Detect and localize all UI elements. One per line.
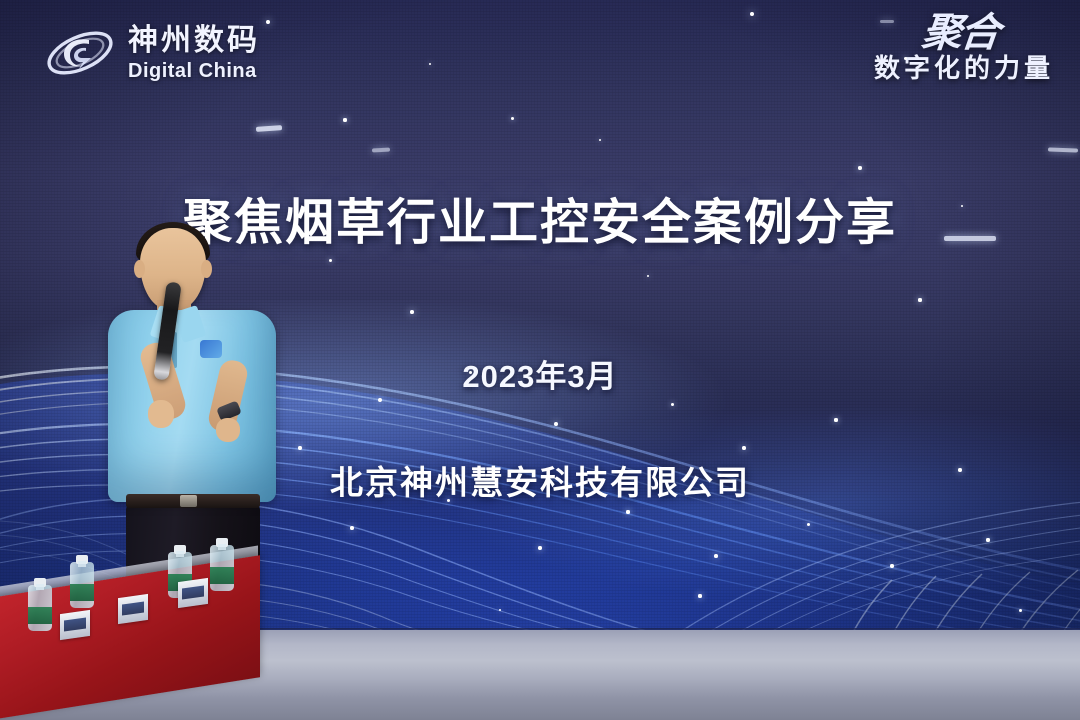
event-logo: 聚合 数字化的力量 (874, 14, 1054, 85)
particle-dot (750, 12, 754, 16)
particle-dot (266, 20, 270, 24)
stage-photo: 神州数码 Digital China 聚合 数字化的力量 聚焦烟草行业工控安全案… (0, 0, 1080, 720)
name-card (60, 610, 90, 640)
name-card-text (122, 601, 144, 615)
bottle-body (28, 585, 52, 631)
water-bottle (28, 585, 52, 631)
speaker-belt-buckle (180, 495, 197, 507)
bottle-body (70, 562, 94, 608)
particle-dot (647, 275, 650, 278)
event-logo-mark: 聚合 (872, 14, 1000, 52)
light-streak (1048, 147, 1078, 152)
light-streak (256, 125, 282, 132)
name-card (178, 578, 208, 608)
water-bottle (70, 562, 94, 608)
name-card (118, 594, 148, 624)
speaker-ear-left (134, 260, 145, 278)
speaker-hand-right (216, 418, 240, 442)
bottle-neck (36, 584, 44, 590)
speaker-ear-right (201, 260, 212, 278)
particle-dot (858, 166, 861, 169)
bottle-label (70, 584, 94, 601)
particle-dot (429, 63, 432, 66)
water-bottle (210, 545, 234, 591)
name-card-text (182, 585, 204, 599)
light-streak (372, 148, 390, 153)
particle-dot (329, 259, 332, 262)
bottle-neck (176, 551, 184, 557)
particle-dot (918, 298, 921, 301)
bottle-neck (78, 561, 86, 567)
digital-china-logo: 神州数码 Digital China (44, 22, 260, 84)
digital-china-swirl-icon (44, 22, 116, 84)
shirt-logo-badge (200, 340, 222, 358)
bottle-body (210, 545, 234, 591)
speaker-hand-left (148, 400, 174, 428)
bottle-label (210, 567, 234, 584)
particle-dot (410, 310, 414, 314)
name-card-text (64, 617, 86, 631)
brand-name-cn: 神州数码 (128, 26, 260, 56)
bottle-label (28, 607, 52, 624)
bottle-neck (218, 544, 226, 550)
particle-dot (511, 117, 514, 120)
brand-name-en: Digital China (128, 61, 260, 81)
particle-dot (599, 139, 602, 142)
particle-dot (343, 118, 346, 121)
